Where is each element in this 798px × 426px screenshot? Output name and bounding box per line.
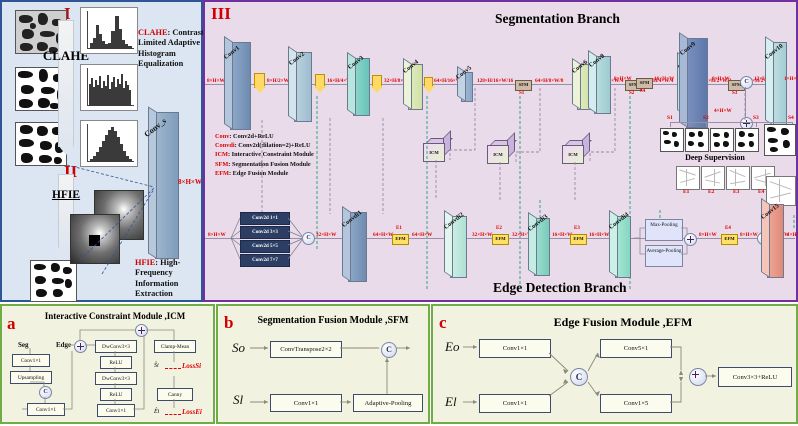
legend-term-sfm: SFM [215, 161, 228, 168]
figure-canvas: I II [0, 0, 798, 424]
conv-s-block [155, 112, 177, 257]
seg-dim-after-sfm2: 32×H/4×W/4 [645, 78, 673, 84]
downsample-arrow-3 [372, 75, 382, 88]
histogram-2 [80, 64, 138, 111]
legend-term-conv: Conv [215, 133, 229, 140]
edge-branch-title: Edge Detection Branch [493, 280, 626, 296]
panel-label-III: III [211, 4, 231, 24]
histogram-1 [80, 7, 138, 54]
sfm-wiring [218, 306, 432, 426]
legend-row-sfm: SFM: Segmentation Fusion Module [215, 160, 314, 169]
legend-term-icm: ICM [215, 151, 228, 158]
icm-wiring [2, 306, 217, 426]
hfie-output-micrograph [30, 260, 77, 302]
legend-text-sfm: Segmentation Fusion Module [232, 161, 311, 168]
seg-input-dim: 8×H×W [207, 78, 225, 84]
legend-text-icm: Interactive Constraint Module [232, 151, 314, 158]
clahe-term: CLAHE [138, 28, 168, 37]
efm-wiring [433, 306, 798, 426]
legend-row-efm: EFM: Edge Fusion Module [215, 169, 314, 178]
histogram-3 [80, 120, 138, 167]
legend-text-efm: Edge Fusion Module [233, 170, 289, 177]
panel-preprocessing: I II [0, 0, 203, 302]
legend-row-conv: Conv: Conv2d+ReLU [215, 132, 314, 141]
panel-sfm-detail: b Segmentation Fusion Module ,SFM So Sl … [216, 304, 430, 424]
sfm-tag-3: S3 [732, 91, 737, 96]
legend-row-icm: ICM: Interactive Constraint Module [215, 150, 314, 159]
hfie-label: HFIE [38, 189, 94, 201]
legend-text-conv: Conv2d+ReLU [233, 133, 274, 140]
legend-term-convdi: Convdi [215, 142, 235, 149]
downsample-arrow-2 [315, 74, 325, 88]
downsample-arrow-1 [254, 73, 265, 88]
hfie-definition: HFIE: High-Frequency Information Extract… [135, 258, 201, 300]
conv-s-dim: 8×H×W [178, 178, 202, 186]
seg-dim-conv6: 32×H/4×W/4 [595, 78, 623, 84]
legend-block: Conv: Conv2d+ReLU Convdi: Conv2d(dilatio… [215, 132, 314, 178]
legend-text-convdi: Conv2d(dilation=2)+ReLU [238, 142, 310, 149]
hfie-term: HFIE [135, 258, 155, 267]
seg-dim-conv5: 128×H/16×W/16 [477, 78, 513, 84]
sfm-node-2[interactable]: SFM [625, 80, 642, 91]
lowpass-block [89, 235, 100, 246]
sfm-tag-1: S1 [519, 91, 524, 96]
panel-icm-detail: a Interactive Constraint Module ,ICM Seg… [0, 304, 215, 424]
panel-efm-detail: c Edge Fusion Module ,EFM Eo El Conv1×1 … [431, 304, 798, 424]
seg-dim-after-sfm1: 64×H/8×W/8 [535, 78, 563, 84]
sfm-node-1[interactable]: SFM [515, 80, 532, 91]
segmentation-branch-title: Segmentation Branch [495, 11, 620, 27]
seg-dim-after-sfm3: 16×H/2×W/2 [747, 78, 775, 84]
fourier-spectrum-2 [70, 214, 120, 264]
sfm-node-3[interactable]: SFM [728, 80, 745, 91]
downsample-arrow-4 [424, 77, 433, 88]
sfm-tag-2: S2 [629, 91, 634, 96]
clahe-definition: CLAHE: Contrast Limited Adaptive Histogr… [138, 28, 204, 70]
legend-term-efm: EFM [215, 170, 229, 177]
clahe-arrow [58, 20, 74, 147]
panel-network-architecture: III Segmentation Branch Edge Detection B… [203, 0, 798, 302]
legend-row-convdi: Convdi: Conv2d(dilation=2)+ReLU [215, 141, 314, 150]
